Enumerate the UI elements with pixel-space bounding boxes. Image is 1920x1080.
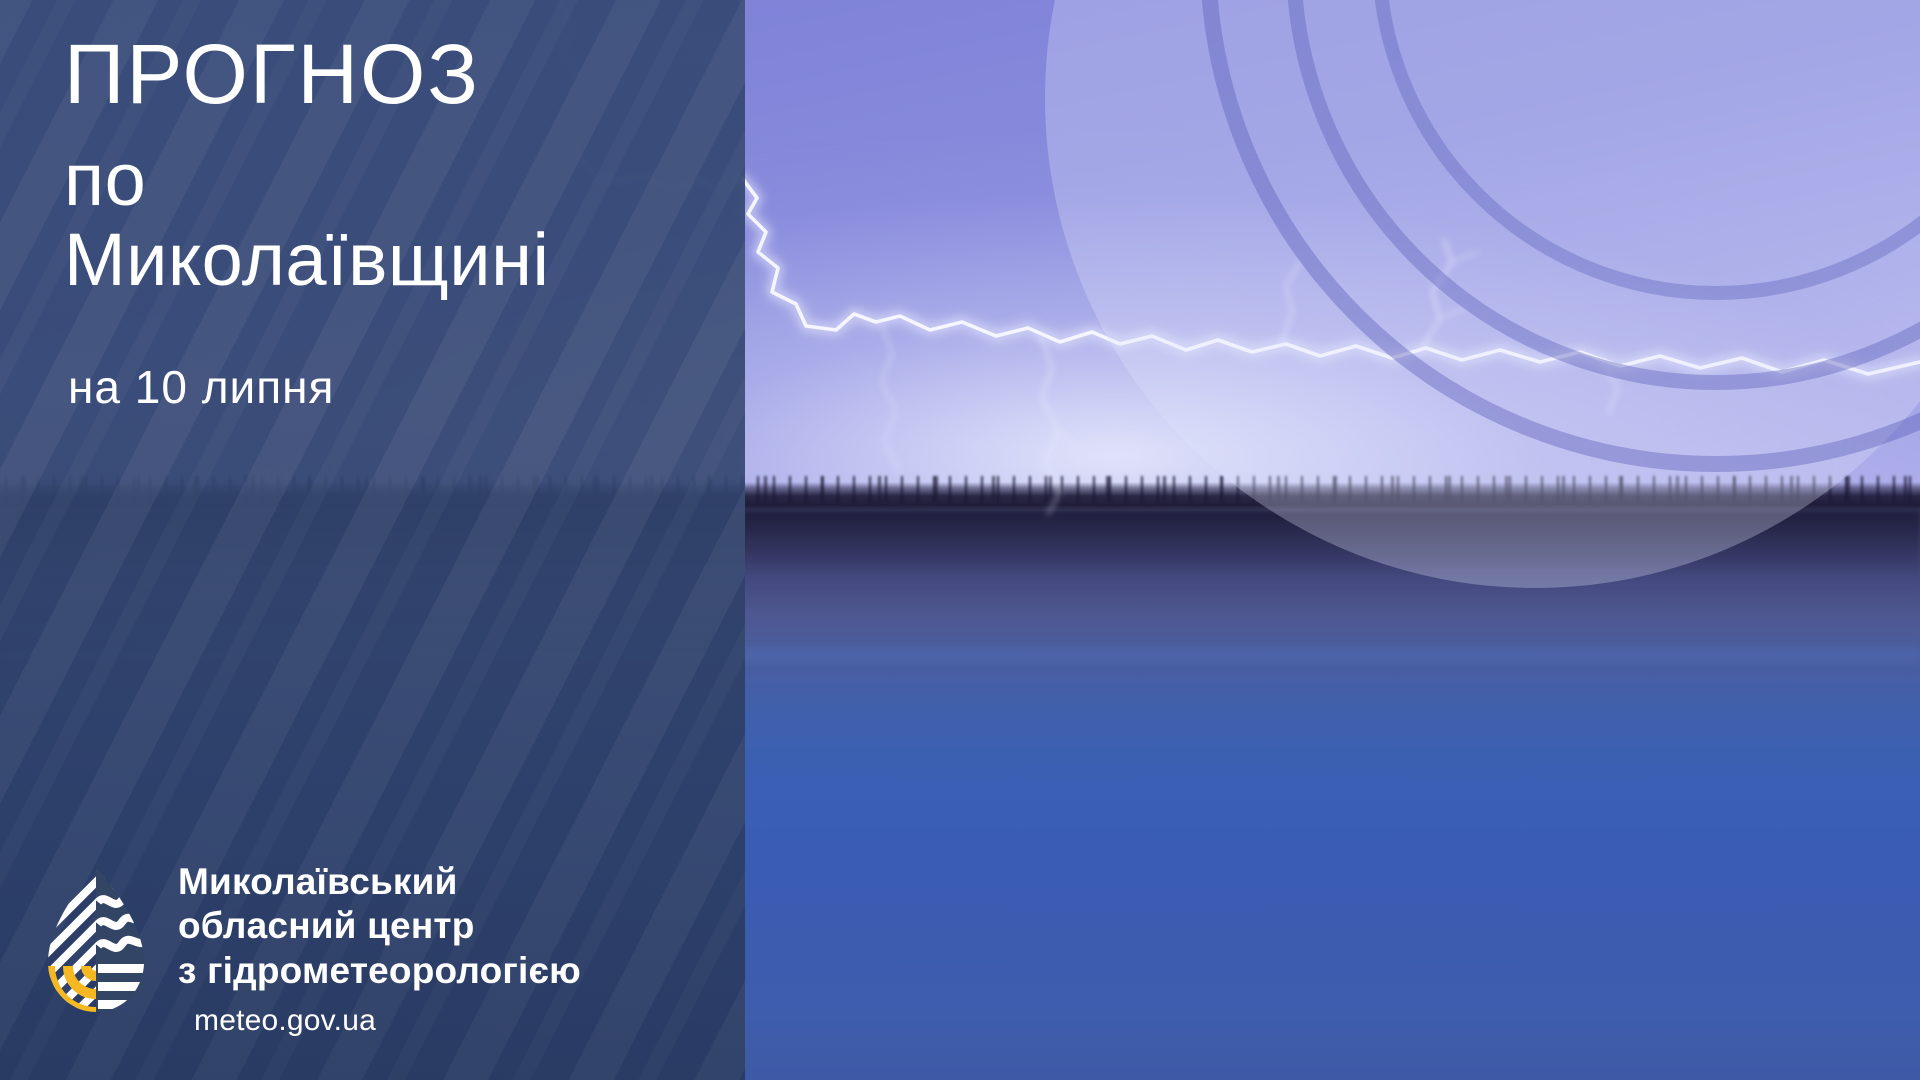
organisation-text: Миколаївський обласний центр з гідромете…	[178, 860, 581, 1038]
headline-line-3: Миколаївщині	[64, 220, 754, 300]
organisation-website-url[interactable]: meteo.gov.ua	[194, 1004, 581, 1038]
droplet-waves-logo-icon	[44, 866, 148, 1014]
organisation-logo-block: Миколаївський обласний центр з гідромете…	[44, 860, 581, 1038]
headline-subtitle: по Миколаївщині	[64, 140, 754, 300]
org-name-line-2: обласний центр	[178, 904, 581, 949]
headline-line-2: по	[64, 140, 754, 220]
organisation-name: Миколаївський обласний центр з гідромете…	[178, 860, 581, 994]
org-name-line-3: з гідрометеорологією	[178, 949, 581, 994]
org-name-line-1: Миколаївський	[178, 860, 581, 905]
headline-block: ПРОГНОЗ по Миколаївщині на 10 липня	[64, 32, 754, 414]
page-title: ПРОГНОЗ	[64, 32, 754, 116]
forecast-poster: ПРОГНОЗ по Миколаївщині на 10 липня	[0, 0, 1920, 1080]
forecast-date: на 10 липня	[68, 360, 754, 414]
